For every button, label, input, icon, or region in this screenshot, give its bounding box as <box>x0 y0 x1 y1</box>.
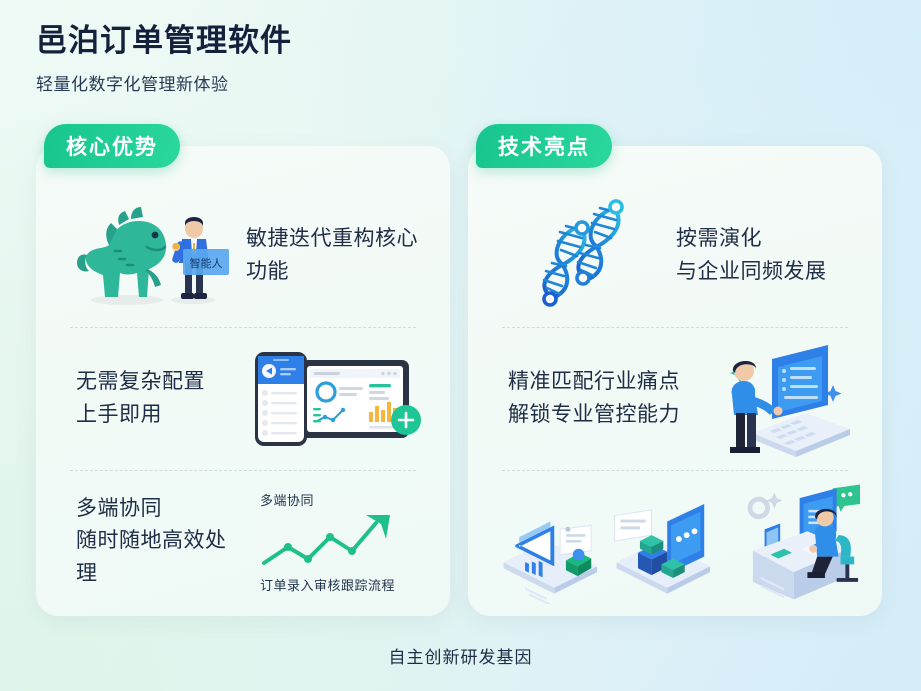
person-at-computer-illustration <box>700 339 860 459</box>
feature-text: 多端协同 随时随地高效处理 <box>76 493 238 591</box>
feature-text: 按需演化 与企业同频发展 <box>676 223 827 288</box>
card-badge-core-advantages: 核心优势 <box>44 124 180 168</box>
core-advantages-rows: 智能人 敏捷迭代重构核心 功能 无需复杂配置 上手即用 <box>36 184 450 616</box>
feature-row: 无需复杂配置 上手即用 <box>36 327 450 470</box>
feature-row: 精准匹配行业痛点 解锁专业管控能力 <box>468 327 882 470</box>
tech-highlights-rows: 按需演化 与企业同频发展 精准匹配行业痛点 解锁专业管控能力 <box>468 184 882 616</box>
feature-text: 精准匹配行业痛点 解锁专业管控能力 <box>508 366 700 431</box>
card-badge-tech-highlights: 技术亮点 <box>476 124 612 168</box>
page-title: 邑泊订单管理软件 <box>36 22 292 61</box>
sign-label: 智能人 <box>190 256 223 270</box>
core-advantages-card: 核心优势 <box>36 146 450 616</box>
feature-row: 多端协同 随时随地高效处理 多端协同 订单录入审核跟踪流程 <box>36 470 450 613</box>
three-isometric-scenes-illustration <box>490 479 860 604</box>
tech-highlights-card: 技术亮点 <box>468 146 882 616</box>
footer-text: 自主创新研发基因 <box>0 643 921 668</box>
feature-text: 无需复杂配置 上手即用 <box>76 366 238 431</box>
chart-title: 多端协同 <box>260 490 314 509</box>
poster-canvas: 邑泊订单管理软件 轻量化数字化管理新体验 核心优势 <box>0 0 921 691</box>
feature-row: 智能人 敏捷迭代重构核心 功能 <box>36 184 450 327</box>
feature-row: 按需演化 与企业同频发展 <box>468 184 882 327</box>
dinosaur-and-person-illustration: 智能人 <box>70 201 240 311</box>
feature-row <box>468 470 882 613</box>
chart-caption: 订单录入审核跟踪流程 <box>260 575 395 594</box>
page-subtitle: 轻量化数字化管理新体验 <box>36 70 292 95</box>
page-header: 邑泊订单管理软件 轻量化数字化管理新体验 <box>36 22 292 95</box>
chart-plot <box>258 511 408 571</box>
phone-dashboard-illustration <box>238 344 428 454</box>
growth-chart: 多端协同 订单录入审核跟踪流程 <box>238 490 428 594</box>
feature-text: 敏捷迭代重构核心 功能 <box>246 223 418 288</box>
dna-helix-icon <box>508 198 658 313</box>
